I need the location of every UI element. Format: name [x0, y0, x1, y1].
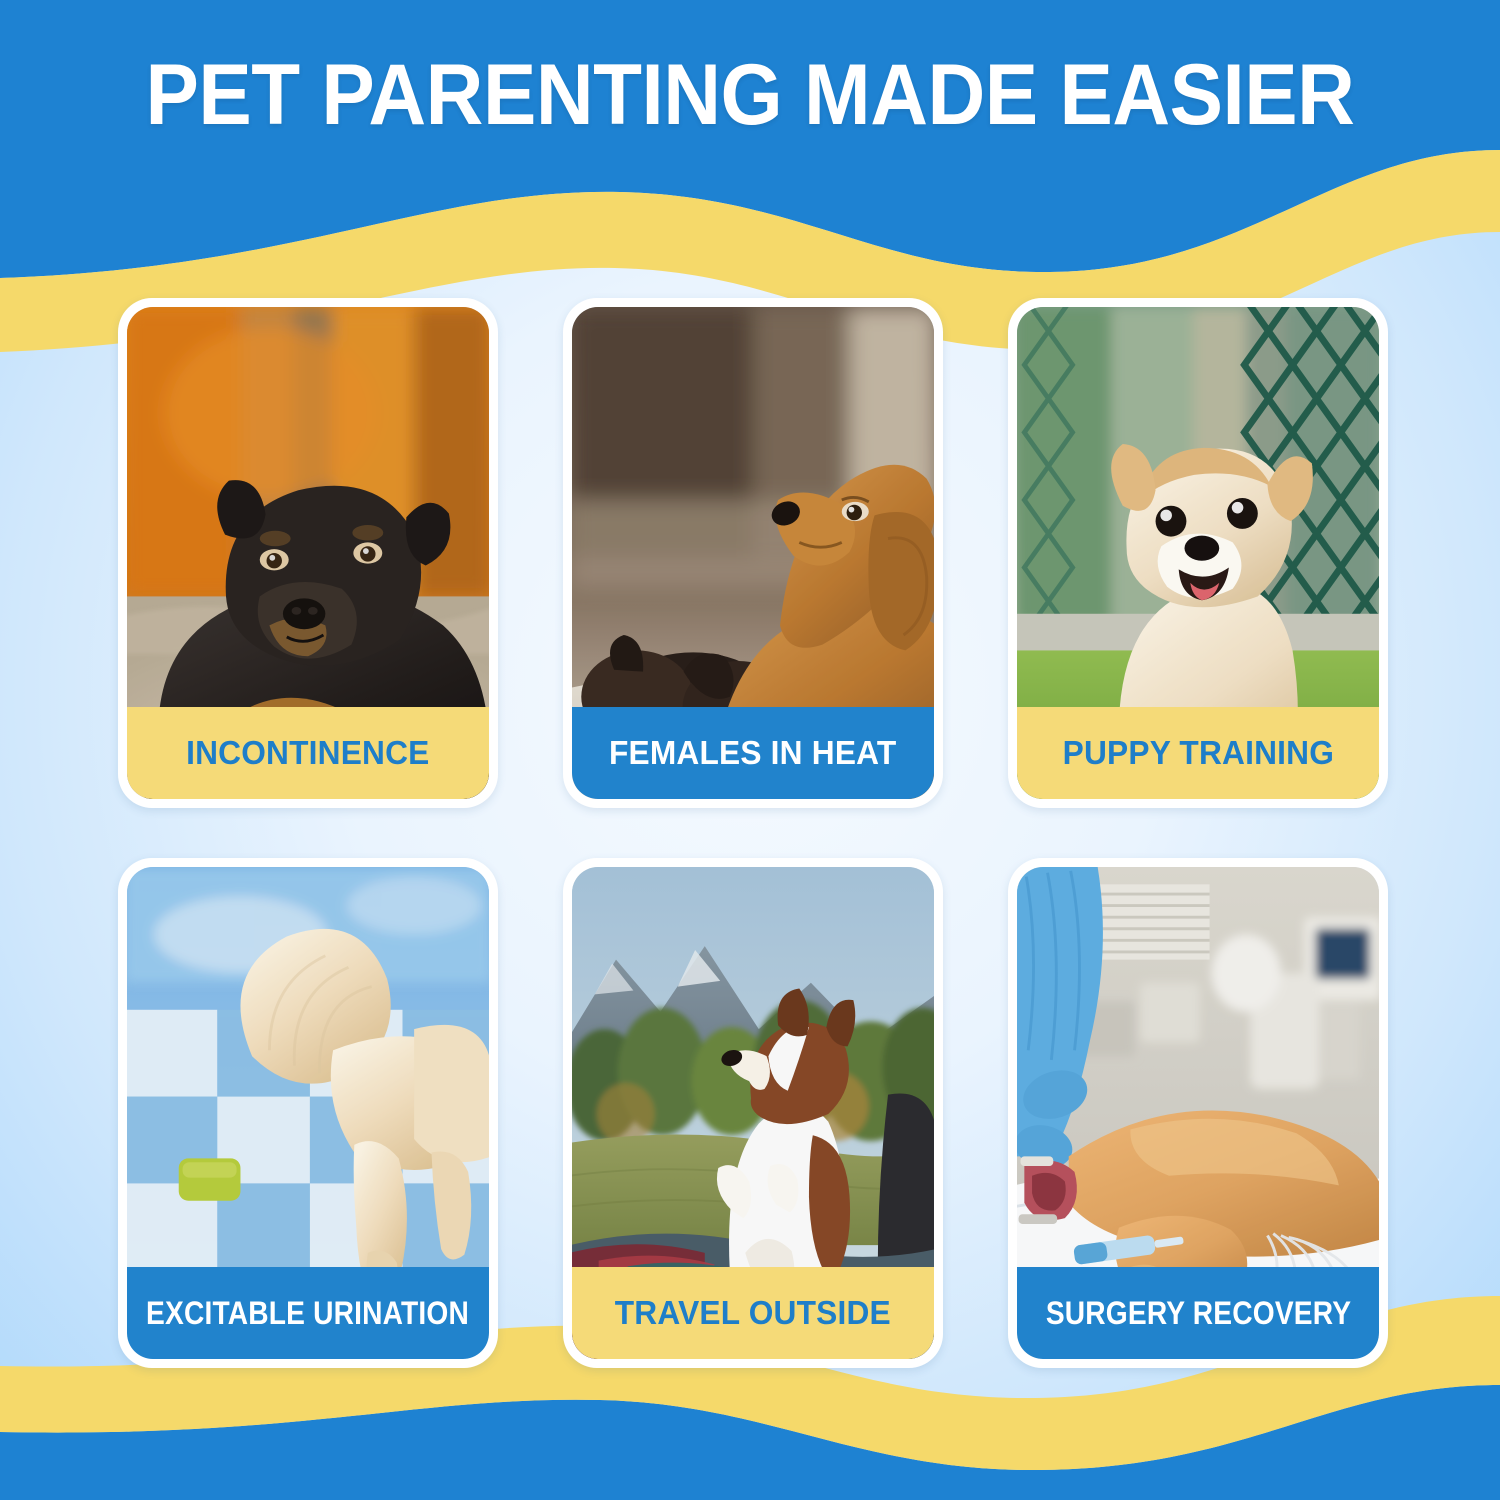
card-females-in-heat[interactable]: FEMALES IN HEAT	[563, 298, 943, 808]
card-inner: SURGERY RECOVERY	[1017, 867, 1379, 1359]
card-incontinence[interactable]: INCONTINENCE	[118, 298, 498, 808]
card-inner: INCONTINENCE	[127, 307, 489, 799]
card-inner: TRAVEL OUTSIDE	[572, 867, 934, 1359]
card-label-text: PUPPY TRAINING	[1062, 734, 1333, 772]
card-label-incontinence: INCONTINENCE	[127, 707, 489, 799]
page-title: PET PARENTING MADE EASIER	[146, 46, 1355, 145]
card-label-text: FEMALES IN HEAT	[609, 734, 896, 772]
card-label-text: TRAVEL OUTSIDE	[615, 1294, 891, 1332]
card-label-travel-outside: TRAVEL OUTSIDE	[572, 1267, 934, 1359]
card-label-surgery-recovery: SURGERY RECOVERY	[1017, 1267, 1379, 1359]
card-label-text: EXCITABLE URINATION	[146, 1295, 469, 1332]
card-label-text: SURGERY RECOVERY	[1045, 1295, 1350, 1332]
card-label-puppy-training: PUPPY TRAINING	[1017, 707, 1379, 799]
card-label-females-in-heat: FEMALES IN HEAT	[572, 707, 934, 799]
card-surgery-recovery[interactable]: SURGERY RECOVERY	[1008, 858, 1388, 1368]
header-banner: PET PARENTING MADE EASIER	[0, 0, 1500, 190]
card-inner: PUPPY TRAINING	[1017, 307, 1379, 799]
card-label-excitable-urination: EXCITABLE URINATION	[127, 1267, 489, 1359]
card-puppy-training[interactable]: PUPPY TRAINING	[1008, 298, 1388, 808]
benefit-card-grid: INCONTINENCE	[118, 298, 1388, 1368]
card-label-text: INCONTINENCE	[186, 734, 429, 772]
card-inner: FEMALES IN HEAT	[572, 307, 934, 799]
card-inner: EXCITABLE URINATION	[127, 867, 489, 1359]
card-travel-outside[interactable]: TRAVEL OUTSIDE	[563, 858, 943, 1368]
card-excitable-urination[interactable]: EXCITABLE URINATION	[118, 858, 498, 1368]
